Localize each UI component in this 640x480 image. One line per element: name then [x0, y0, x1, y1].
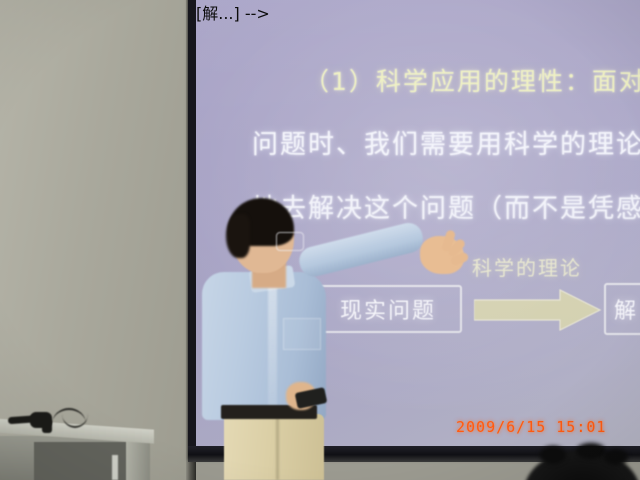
diagram-target-box: 解 [604, 283, 640, 335]
audience-hair-wisp [604, 449, 628, 465]
camera-time: 15:01 [556, 418, 606, 436]
diagram-arrow-icon [474, 288, 602, 332]
glasses-icon [276, 232, 304, 251]
presenter-shirt-pocket [283, 318, 321, 350]
presenter-trousers [224, 414, 324, 480]
camera-date: 2009/6/15 [456, 418, 546, 436]
camera-timestamp: 2009/6/1515:01 [456, 418, 606, 436]
slide-body-line-1: 问题时、我们需要用科学的理论和 [252, 124, 640, 161]
presenter-hair-side [226, 214, 250, 258]
slide-body-line-2: 地去解决这个问题（而不是凭感 [252, 188, 640, 225]
slide-title-line: （1）科学应用的理性：面对 [304, 62, 640, 98]
cable [42, 419, 52, 433]
diagram-arrow-label: 科学的理论 [472, 252, 582, 281]
presenter-trouser-seam [276, 418, 279, 480]
presenter-shirt-placket [268, 282, 277, 414]
audience-hair-wisp [540, 446, 566, 464]
diagram-source-box: 现实问题 [314, 285, 462, 333]
audience-hair-wisp [576, 443, 606, 459]
photo-scene: （1）科学应用的理性：面对 问题时、我们需要用科学的理论和 地去解决这个问题（而… [0, 0, 640, 480]
podium-desk-slot [112, 455, 118, 480]
classroom-wall [0, 0, 192, 480]
